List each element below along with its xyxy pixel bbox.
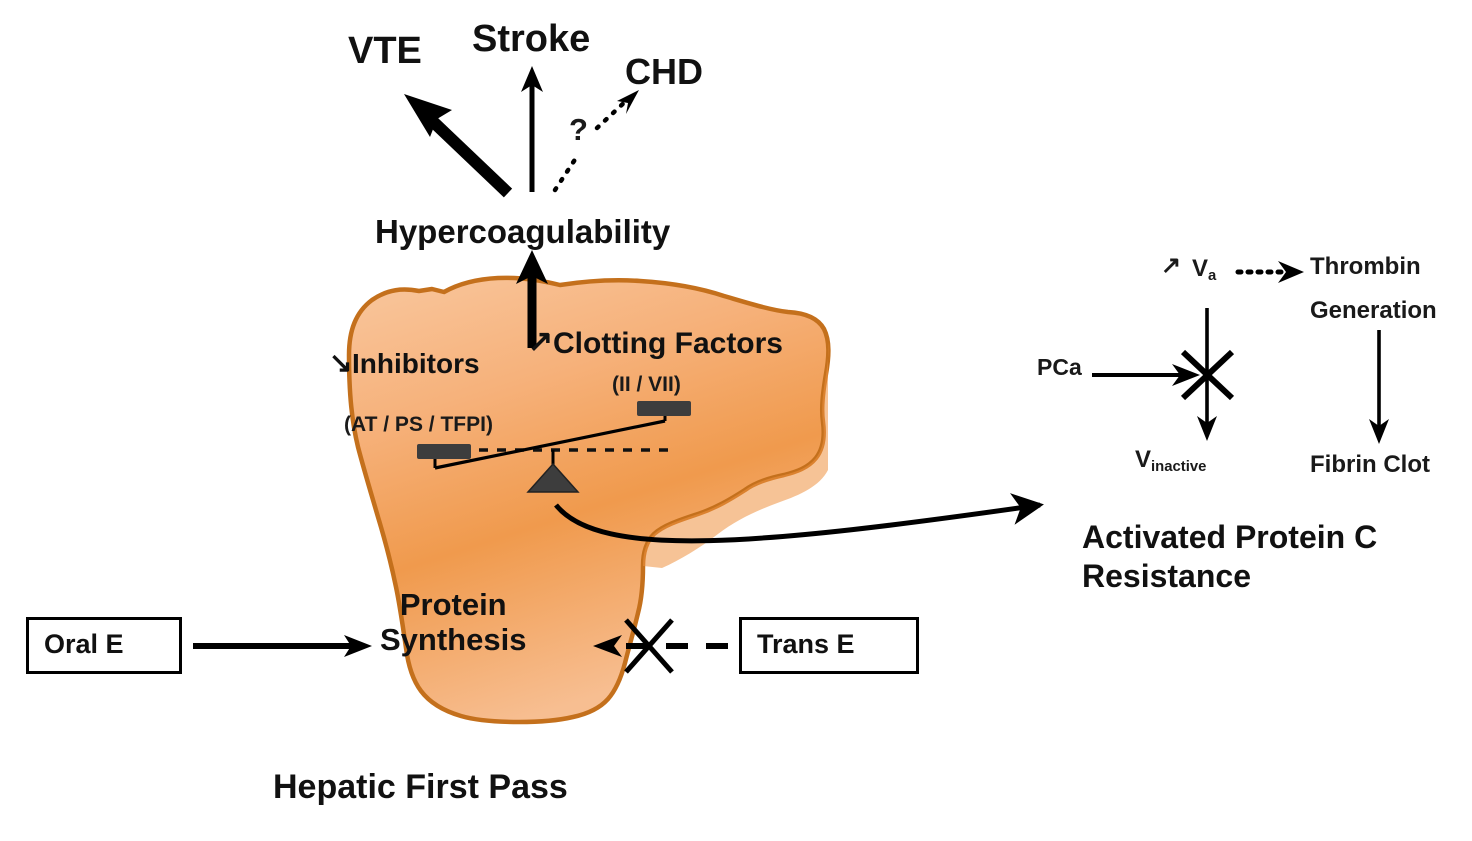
apc-resistance-diagram [1092, 261, 1389, 444]
label-fibrin-clot: Fibrin Clot [1310, 452, 1430, 479]
diagram-canvas: VTE Stroke CHD ? Hypercoagulability ↗ Cl… [0, 0, 1472, 841]
label-factor-v-inactive-base: V [1135, 446, 1151, 473]
label-stroke: Stroke [472, 18, 590, 61]
label-thrombin-generation: Generation [1310, 298, 1437, 325]
label-uncertainty-marker: ? [569, 113, 588, 148]
label-clotting-factors: Clotting Factors [553, 327, 783, 361]
label-factor-v-inactive-sub: inactive [1151, 459, 1206, 475]
label-clotting-factor-detail: (II / VII) [612, 373, 681, 397]
label-inhibitor-detail: (AT / PS / TFPI) [344, 413, 493, 437]
label-hypercoagulability: Hypercoagulability [375, 214, 670, 251]
up-arrow-va-icon: ↗ [1161, 253, 1181, 280]
label-protein-synthesis: Protein Synthesis [380, 588, 526, 657]
balance-weight-inhibitors [417, 444, 471, 459]
arrow-to-chd [555, 90, 639, 190]
label-factor-v-inactive: Vinactive [1135, 447, 1206, 474]
arrow-to-stroke [521, 66, 543, 192]
label-inhibitors: Inhibitors [352, 348, 480, 379]
label-factor-va: Va [1192, 256, 1216, 283]
label-apc-resistance-line1: Activated Protein C [1082, 518, 1377, 557]
diagram-vector-layer [0, 0, 1472, 841]
arrow-to-vte [404, 94, 508, 193]
arrow-oral-estrogen [193, 635, 372, 657]
down-arrow-icon: ↘ [329, 347, 352, 378]
label-transdermal-estrogen: Trans E [757, 629, 855, 659]
up-arrow-icon: ↗ [528, 325, 553, 359]
label-vte: VTE [348, 30, 422, 73]
balance-weight-clotting-factors [637, 401, 691, 416]
label-factor-va-base: V [1192, 255, 1208, 282]
label-apc-resistance-title: Activated Protein C Resistance [1082, 518, 1377, 596]
label-apc-resistance-line2: Resistance [1082, 557, 1377, 596]
label-protein-synthesis-line1: Protein [380, 588, 526, 623]
label-hepatic-first-pass: Hepatic First Pass [273, 768, 568, 806]
label-factor-va-sub: a [1208, 268, 1216, 284]
label-thrombin: Thrombin [1310, 254, 1421, 281]
label-chd: CHD [625, 52, 703, 92]
label-protein-synthesis-line2: Synthesis [380, 623, 526, 658]
label-activated-protein-c: PCa [1037, 355, 1082, 381]
label-oral-estrogen: Oral E [44, 629, 124, 659]
